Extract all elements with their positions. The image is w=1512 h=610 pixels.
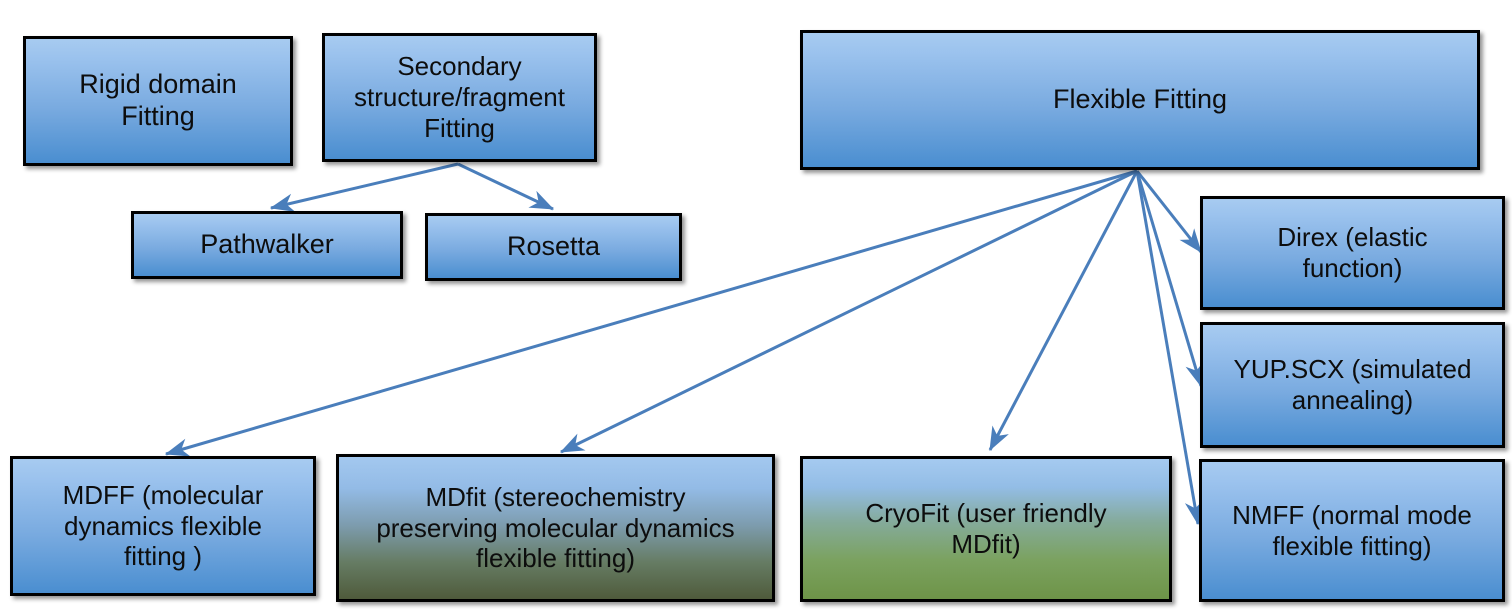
node-label: NMFF (normal mode flexible fitting) [1210,500,1494,561]
node-mdfit[interactable]: MDfit (stereochemistry preserving molecu… [336,454,775,602]
edge-flexible-to-cryofit [990,171,1137,450]
node-rosetta[interactable]: Rosetta [425,213,682,281]
node-label: Rigid domain Fitting [34,69,282,133]
node-label: YUP.SCX (simulated annealing) [1211,354,1494,415]
node-label: MDFF (molecular dynamics flexible fittin… [21,480,305,572]
node-direx[interactable]: Direx (elastic function) [1200,196,1505,310]
node-cryofit[interactable]: CryoFit (user friendly MDfit) [800,456,1172,602]
node-label: Secondary structure/fragment Fitting [333,51,586,143]
node-label: Rosetta [436,231,671,263]
edge-flexible-to-direx [1137,171,1201,252]
node-nmff[interactable]: NMFF (normal mode flexible fitting) [1199,459,1505,602]
edge-secondary-to-pathwalker [271,164,458,208]
node-label: Pathwalker [142,229,392,261]
node-secondary-structure-fitting[interactable]: Secondary structure/fragment Fitting [322,33,597,162]
node-label: Direx (elastic function) [1211,222,1494,283]
node-pathwalker[interactable]: Pathwalker [131,211,403,279]
node-mdff[interactable]: MDFF (molecular dynamics flexible fittin… [10,456,316,596]
edge-secondary-to-rosetta [458,164,553,209]
node-rigid-domain-fitting[interactable]: Rigid domain Fitting [23,36,293,166]
diagram-canvas: Rigid domain Fitting Secondary structure… [0,0,1512,610]
edge-flexible-to-yupscx [1137,171,1201,386]
node-flexible-fitting[interactable]: Flexible Fitting [800,30,1480,170]
node-yup-scx[interactable]: YUP.SCX (simulated annealing) [1200,322,1505,448]
node-label: Flexible Fitting [811,84,1469,116]
node-label: CryoFit (user friendly MDfit) [811,498,1161,559]
node-label: MDfit (stereochemistry preserving molecu… [347,482,764,574]
